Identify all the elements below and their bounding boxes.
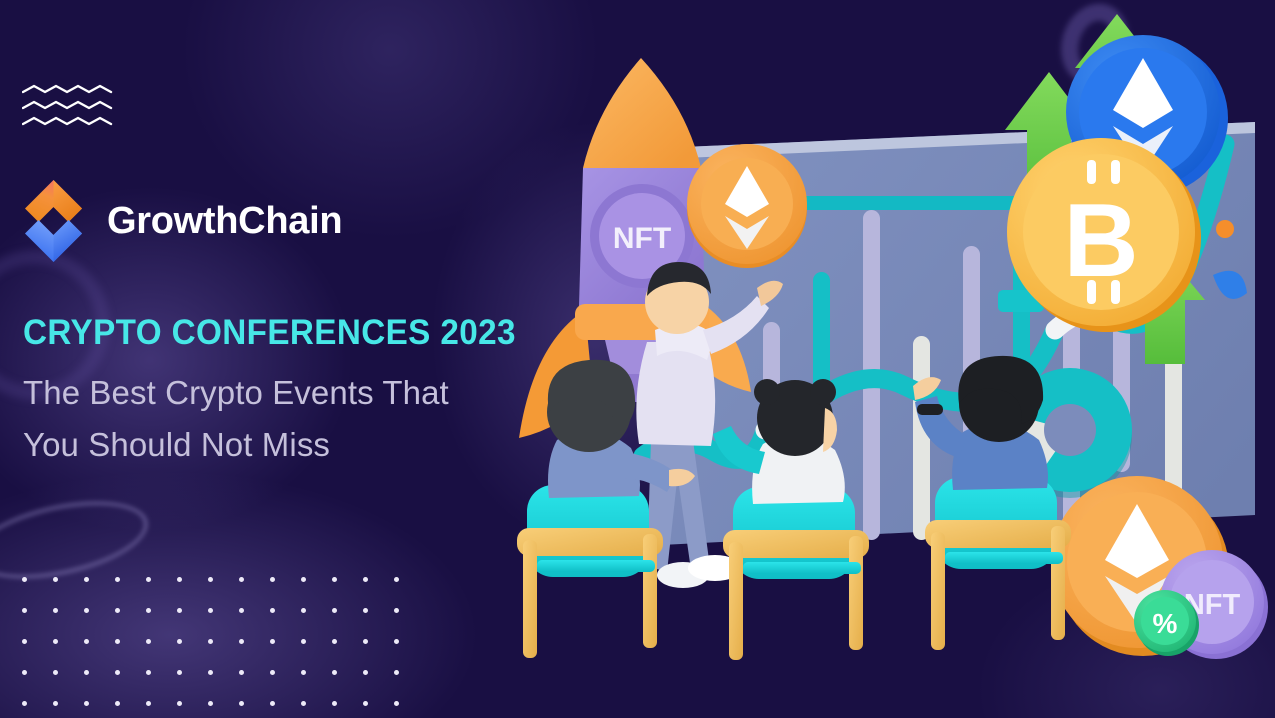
ethereum-coin-orange-top xyxy=(687,144,807,268)
zigzag-lines-decoration xyxy=(22,84,114,128)
grid-dot xyxy=(177,639,182,644)
grid-dot xyxy=(301,577,306,582)
armchair xyxy=(723,487,869,660)
armchair xyxy=(925,477,1071,650)
grid-dot xyxy=(332,639,337,644)
grid-dot xyxy=(239,670,244,675)
grid-dot xyxy=(84,608,89,613)
grid-dot xyxy=(208,670,213,675)
page-title: CRYPTO CONFERENCES 2023 xyxy=(23,313,516,353)
grid-dot xyxy=(22,670,27,675)
grid-dot xyxy=(332,701,337,706)
grid-dot xyxy=(177,608,182,613)
grid-dot xyxy=(270,608,275,613)
grid-dot xyxy=(53,639,58,644)
grid-dot xyxy=(301,639,306,644)
grid-dot xyxy=(146,670,151,675)
grid-dot xyxy=(394,670,399,675)
grid-dot xyxy=(301,701,306,706)
grid-dot xyxy=(146,701,151,706)
grid-dot xyxy=(208,608,213,613)
grid-dot xyxy=(53,670,58,675)
grid-dot xyxy=(115,608,120,613)
grid-dot xyxy=(177,670,182,675)
grid-dot xyxy=(239,701,244,706)
grid-dot xyxy=(146,608,151,613)
grid-dot xyxy=(84,577,89,582)
grid-dot xyxy=(53,577,58,582)
grid-dot xyxy=(53,608,58,613)
brand-logo[interactable]: GrowthChain xyxy=(22,178,342,264)
grid-dot xyxy=(22,577,27,582)
grid-dot xyxy=(208,701,213,706)
armchair xyxy=(517,485,663,658)
grid-dot xyxy=(394,701,399,706)
growthchain-diamond-logo-icon xyxy=(22,178,85,264)
grid-dot xyxy=(363,639,368,644)
grid-dot xyxy=(22,701,27,706)
grid-dot xyxy=(270,670,275,675)
grid-dot xyxy=(332,670,337,675)
grid-dot xyxy=(270,639,275,644)
grid-dot xyxy=(394,639,399,644)
grid-dot xyxy=(208,639,213,644)
grid-dot xyxy=(146,639,151,644)
grid-dot xyxy=(363,670,368,675)
grid-dot xyxy=(239,577,244,582)
grid-dot xyxy=(115,701,120,706)
grid-dot xyxy=(301,608,306,613)
percent-coin-label: % xyxy=(1153,608,1178,639)
grid-dot xyxy=(270,701,275,706)
wristwatch xyxy=(917,404,943,415)
grid-dot xyxy=(22,639,27,644)
grid-dot xyxy=(332,577,337,582)
grid-dot xyxy=(270,577,275,582)
grid-dot xyxy=(208,577,213,582)
grid-dot xyxy=(115,639,120,644)
grid-dot xyxy=(363,701,368,706)
grid-dot xyxy=(84,670,89,675)
bitcoin-symbol: B xyxy=(1063,183,1138,299)
crypto-conference-banner: GrowthChain CRYPTO CONFERENCES 2023 The … xyxy=(0,0,1275,718)
rocket-nft-label: NFT xyxy=(613,222,671,255)
grid-dot xyxy=(22,608,27,613)
grid-dot xyxy=(332,608,337,613)
grid-dot xyxy=(394,577,399,582)
conference-illustration: NFT B xyxy=(465,0,1275,718)
grid-dot xyxy=(363,608,368,613)
grid-dot xyxy=(239,608,244,613)
grid-dot xyxy=(84,639,89,644)
grid-dot xyxy=(53,701,58,706)
brand-name: GrowthChain xyxy=(107,202,342,240)
grid-dot xyxy=(84,701,89,706)
grid-dot xyxy=(115,577,120,582)
orange-dot-decoration xyxy=(1216,220,1234,238)
grid-dot xyxy=(363,577,368,582)
grid-dot xyxy=(115,670,120,675)
grid-dot xyxy=(394,608,399,613)
grid-dot xyxy=(177,701,182,706)
grid-dot xyxy=(301,670,306,675)
grid-dot xyxy=(146,577,151,582)
grid-dot xyxy=(239,639,244,644)
grid-dot xyxy=(177,577,182,582)
